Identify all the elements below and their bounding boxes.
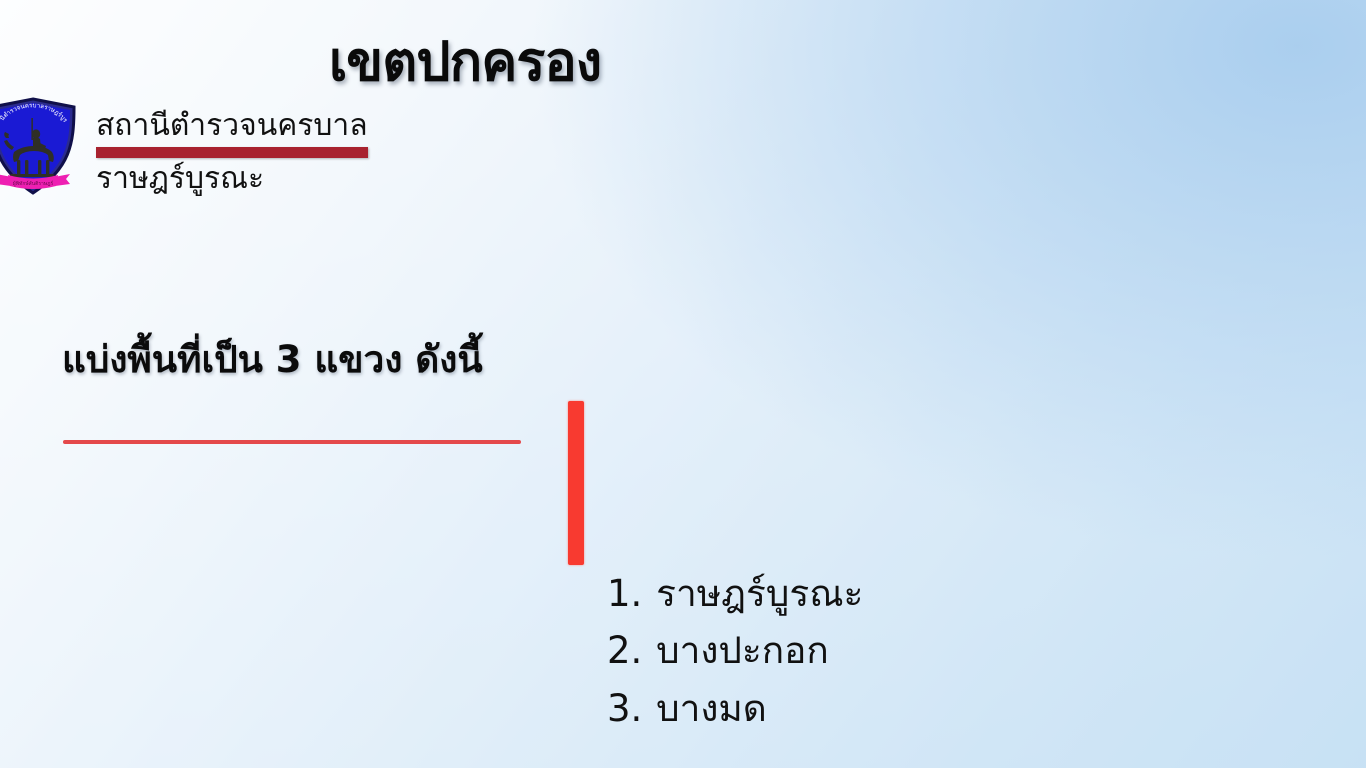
list-item-number: 2. bbox=[607, 629, 642, 672]
list-item-number: 3. bbox=[607, 687, 642, 730]
svg-text:ผู้พิทักษ์สันติราษฎร์: ผู้พิทักษ์สันติราษฎร์ bbox=[13, 180, 54, 187]
red-accent-bar bbox=[568, 401, 584, 565]
brand-line-2: ราษฎร์บูรณะ bbox=[96, 161, 368, 198]
division-heading: แบ่งพื้นที่เป็น 3 แขวง ดังนี้ bbox=[62, 330, 1366, 389]
subdistrict-list: 1. ราษฎร์บูรณะ 2. บางปะกอก 3. บางมด bbox=[607, 565, 1366, 737]
list-item: 1. ราษฎร์บูรณะ bbox=[607, 565, 1366, 622]
brand-line-1: สถานีตำรวจนครบาล bbox=[96, 108, 368, 145]
brand-text: สถานีตำรวจนครบาล ราษฎร์บูรณะ bbox=[96, 96, 368, 197]
list-item: 3. บางมด bbox=[607, 680, 1366, 737]
page-title: เขตปกครอง bbox=[0, 18, 930, 104]
brand-block: สถานีตำรวจนครบาลราษฎร์บูรณะ bbox=[0, 96, 1350, 202]
list-item-number: 1. bbox=[607, 572, 642, 615]
police-shield-equestrian-logo-icon: สถานีตำรวจนครบาลราษฎร์บูรณะ bbox=[0, 96, 82, 202]
division-heading-underline bbox=[63, 440, 521, 444]
list-item: 2. บางปะกอก bbox=[607, 622, 1366, 679]
list-item-label: บางมด bbox=[656, 687, 767, 730]
slide-canvas: เขตปกครอง สถานีตำรวจนครบาลราษฎร์บูรณะ bbox=[0, 0, 1366, 768]
list-item-label: ราษฎร์บูรณะ bbox=[656, 572, 863, 615]
brand-divider bbox=[96, 147, 368, 158]
list-item-label: บางปะกอก bbox=[656, 629, 829, 672]
